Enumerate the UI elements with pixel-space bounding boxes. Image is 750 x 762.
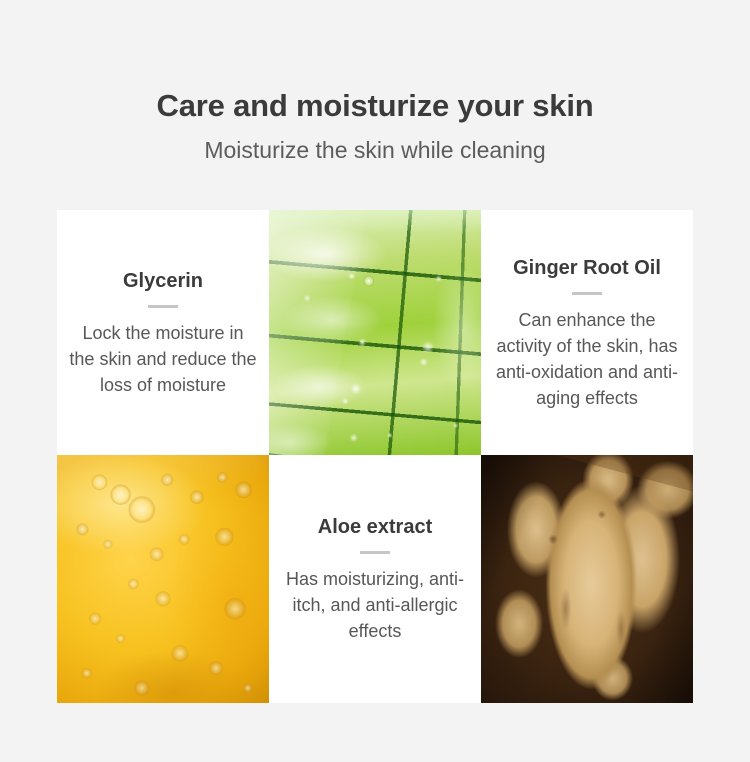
card-title: Ginger Root Oil bbox=[513, 255, 661, 281]
glycerin-bubble-texture bbox=[57, 455, 269, 703]
ingredient-card-ginger-root-oil: Ginger Root Oil Can enhance the activity… bbox=[481, 210, 693, 455]
title-divider bbox=[572, 292, 602, 295]
card-body: Has moisturizing, anti-itch, and anti-al… bbox=[281, 566, 469, 644]
aloe-bubble-texture bbox=[269, 210, 481, 455]
title-divider bbox=[360, 551, 390, 554]
ginger-shading-texture bbox=[481, 455, 693, 703]
header: Care and moisturize your skin Moisturize… bbox=[0, 86, 750, 166]
card-title: Glycerin bbox=[123, 268, 203, 294]
ginger-root-photo bbox=[481, 455, 693, 703]
product-ingredient-infographic: Care and moisturize your skin Moisturize… bbox=[0, 0, 750, 762]
ingredient-card-glycerin: Glycerin Lock the moisture in the skin a… bbox=[57, 210, 269, 455]
title-divider bbox=[148, 305, 178, 308]
aloe-vera-gel-photo bbox=[269, 210, 481, 455]
ingredient-card-aloe-extract: Aloe extract Has moisturizing, anti-itch… bbox=[269, 455, 481, 703]
page-title: Care and moisturize your skin bbox=[0, 86, 750, 126]
ingredient-grid: Glycerin Lock the moisture in the skin a… bbox=[57, 210, 693, 703]
card-body: Can enhance the activity of the skin, ha… bbox=[493, 307, 681, 411]
page-subtitle: Moisturize the skin while cleaning bbox=[0, 134, 750, 166]
card-body: Lock the moisture in the skin and reduce… bbox=[69, 320, 257, 398]
card-title: Aloe extract bbox=[318, 514, 433, 540]
glycerin-liquid-photo bbox=[57, 455, 269, 703]
